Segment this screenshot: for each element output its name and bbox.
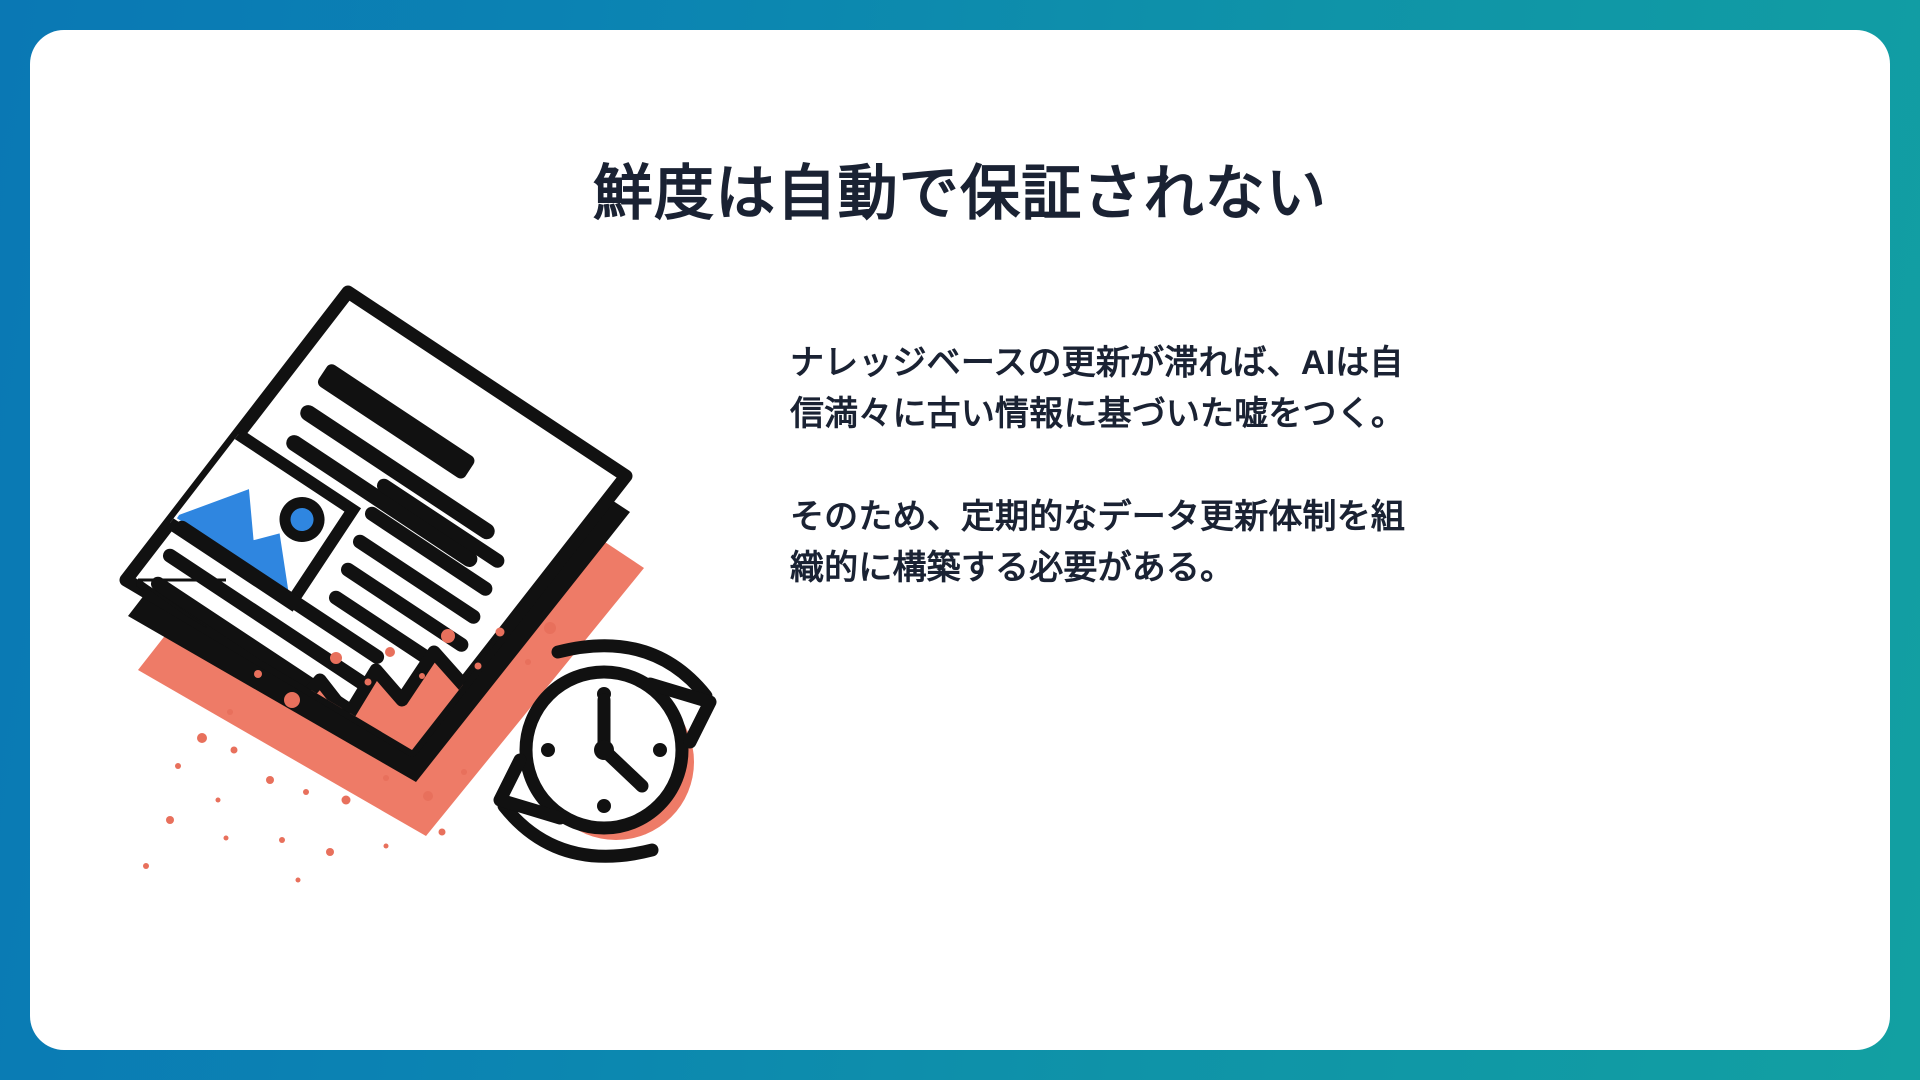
- stale-document-clock-illustration: [30, 280, 790, 900]
- body-text-column: ナレッジベースの更新が滞れば、AIは自信満々に古い情報に基づいた嘘をつく。 その…: [790, 280, 1890, 594]
- page-title: 鮮度は自動で保証されない: [30, 156, 1890, 231]
- slide-background: 鮮度は自動で保証されない: [0, 0, 1920, 1080]
- illustration-container: [30, 280, 790, 900]
- slide-content-row: ナレッジベースの更新が滞れば、AIは自信満々に古い情報に基づいた嘘をつく。 その…: [30, 280, 1890, 900]
- body-paragraph-1: ナレッジベースの更新が滞れば、AIは自信満々に古い情報に基づいた嘘をつく。: [790, 338, 1430, 440]
- slide-card: 鮮度は自動で保証されない: [30, 30, 1890, 1050]
- body-paragraph-2: そのため、定期的なデータ更新体制を組織的に構築する必要がある。: [790, 492, 1430, 594]
